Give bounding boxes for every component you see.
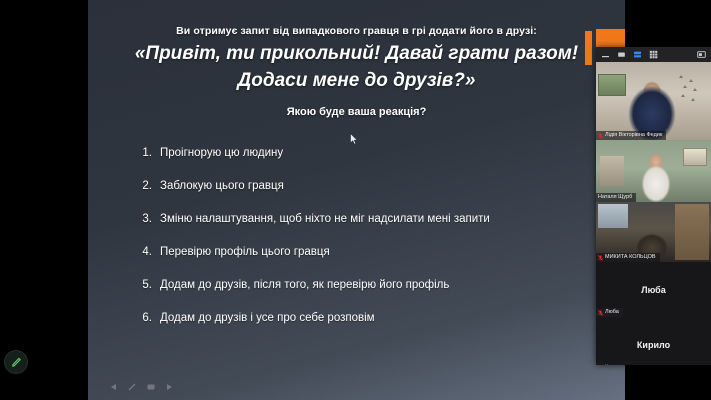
video-background-pattern <box>677 72 703 104</box>
slide-intro-line: Ви отримує запит від випадкового гравця … <box>88 25 625 37</box>
video-background-door <box>675 204 709 260</box>
desktop-background: Ви отримує запит від випадкового гравця … <box>0 0 711 400</box>
pen-icon[interactable] <box>127 382 137 392</box>
participant-tile[interactable]: Кирило Кирило <box>596 317 711 365</box>
video-background-window <box>598 204 628 228</box>
participant-tile[interactable]: Наталя Щурб <box>596 140 711 202</box>
slide-icon[interactable] <box>146 382 156 392</box>
annotate-pencil-button[interactable] <box>4 350 28 374</box>
participant-tile[interactable]: МИКИТА КОЛЬЦОВ <box>596 202 711 262</box>
list-item: 3. Зміню налаштування, щоб ніхто не міг … <box>132 212 607 226</box>
list-item: 2. Заблокую цього гравця <box>132 179 607 193</box>
participant-display-name: Кирило <box>637 340 670 350</box>
zoom-panel-toolbar[interactable] <box>596 47 711 62</box>
slide-quote: «Привіт, ти прикольний! Давай грати разо… <box>88 40 625 94</box>
list-item-label: Зміню налаштування, щоб ніхто не міг над… <box>160 212 490 226</box>
participant-name: Люба <box>605 309 619 316</box>
previous-slide-icon[interactable] <box>108 382 118 392</box>
list-item-number: 6. <box>132 311 152 325</box>
participant-name-badge: Кирило <box>596 363 628 365</box>
list-item-number: 4. <box>132 245 152 259</box>
video-background-furniture <box>600 156 624 186</box>
presented-slide[interactable]: Ви отримує запит від випадкового гравця … <box>88 0 625 400</box>
microphone-muted-icon <box>598 255 603 261</box>
participant-name-badge: Наталя Щурб <box>596 193 636 202</box>
list-item-label: Додам до друзів і усе про себе розповім <box>160 311 375 325</box>
microphone-muted-icon <box>598 133 603 139</box>
video-background-shelf <box>598 74 626 96</box>
minimize-icon[interactable] <box>601 50 610 59</box>
participant-name: МИКИТА КОЛЬЦОВ <box>605 254 656 261</box>
mouse-cursor <box>350 133 358 145</box>
slide-tool-strip[interactable] <box>108 382 175 392</box>
microphone-muted-icon <box>598 310 603 316</box>
list-item-number: 2. <box>132 179 152 193</box>
participant-display-name: Люба <box>641 285 665 295</box>
list-item: 1. Проігнорую цю людину <box>132 146 607 160</box>
slide-question: Якою буде ваша реакція? <box>88 106 625 118</box>
list-item-label: Додам до друзів, після того, як перевірю… <box>160 278 449 292</box>
participant-name-badge: Люба <box>596 308 623 317</box>
participant-name: Лідія Вікторівна Федик <box>605 132 662 139</box>
zoom-participants-panel[interactable]: Лідія Вікторівна Федик Наталя Щурб МИКИТ… <box>596 47 711 365</box>
list-item-label: Заблокую цього гравця <box>160 179 284 193</box>
list-item-label: Перевірю профіль цього гравця <box>160 245 330 259</box>
video-background-board <box>683 148 707 166</box>
list-item-number: 1. <box>132 146 152 160</box>
restore-icon[interactable] <box>617 50 626 59</box>
answer-options-list: 1. Проігнорую цю людину 2. Заблокую цьог… <box>132 146 607 344</box>
list-item: 5. Додам до друзів, після того, як перев… <box>132 278 607 292</box>
microphone-muted-icon <box>598 365 603 366</box>
popout-window-icon[interactable] <box>697 50 706 59</box>
participant-name: Кирило <box>605 364 624 365</box>
participant-name-badge: МИКИТА КОЛЬЦОВ <box>596 253 660 262</box>
participant-tile[interactable]: Люба Люба <box>596 262 711 317</box>
speaker-view-icon[interactable] <box>633 50 642 59</box>
list-item: 4. Перевірю профіль цього гравця <box>132 245 607 259</box>
list-item-number: 5. <box>132 278 152 292</box>
list-item-label: Проігнорую цю людину <box>160 146 283 160</box>
gallery-view-icon[interactable] <box>649 50 658 59</box>
participant-tile[interactable]: Лідія Вікторівна Федик <box>596 62 711 140</box>
next-slide-icon[interactable] <box>165 382 175 392</box>
list-item: 6. Додам до друзів і усе про себе розпов… <box>132 311 607 325</box>
pencil-icon <box>10 356 23 369</box>
slide-content: Ви отримує запит від випадкового гравця … <box>88 0 625 400</box>
list-item-number: 3. <box>132 212 152 226</box>
participant-name-badge: Лідія Вікторівна Федик <box>596 131 666 140</box>
participant-name: Наталя Щурб <box>598 194 632 201</box>
